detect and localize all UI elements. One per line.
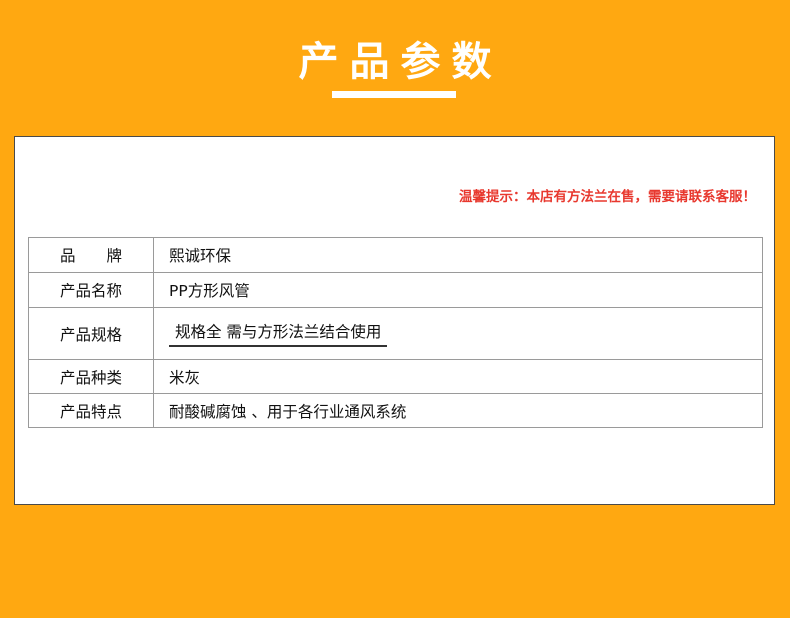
content-card: 温馨提示：本店有方法兰在售，需要请联系客服！ 品 牌 熙诚环保 产品名称 PP方… xyxy=(14,136,775,505)
row-label-specification: 产品规格 xyxy=(29,308,154,360)
row-label-product-type: 产品种类 xyxy=(29,360,154,394)
row-value-product-type: 米灰 xyxy=(154,360,763,394)
table-row: 产品名称 PP方形风管 xyxy=(29,273,763,308)
table-row: 品 牌 熙诚环保 xyxy=(29,238,763,273)
row-label-brand: 品 牌 xyxy=(29,238,154,273)
row-label-product-name: 产品名称 xyxy=(29,273,154,308)
row-label-product-features: 产品特点 xyxy=(29,394,154,428)
table-row: 产品特点 耐酸碱腐蚀 、用于各行业通风系统 xyxy=(29,394,763,428)
row-value-product-name: PP方形风管 xyxy=(154,273,763,308)
product-parameters-page: 产品参数 温馨提示：本店有方法兰在售，需要请联系客服！ 品 牌 熙诚环保 产品名… xyxy=(0,0,790,618)
specification-table: 品 牌 熙诚环保 产品名称 PP方形风管 产品规格 规格全 需与方形法兰结合使用… xyxy=(28,237,763,428)
notice-text: 温馨提示：本店有方法兰在售，需要请联系客服！ xyxy=(459,188,756,206)
row-value-specification-cell: 规格全 需与方形法兰结合使用 xyxy=(154,308,763,360)
page-title: 产品参数 xyxy=(0,38,790,86)
row-value-specification: 规格全 需与方形法兰结合使用 xyxy=(169,320,387,347)
row-value-product-features: 耐酸碱腐蚀 、用于各行业通风系统 xyxy=(154,394,763,428)
row-value-brand: 熙诚环保 xyxy=(154,238,763,273)
table-row: 产品种类 米灰 xyxy=(29,360,763,394)
header-banner: 产品参数 xyxy=(0,0,790,136)
title-underline-bar xyxy=(332,91,456,98)
table-row: 产品规格 规格全 需与方形法兰结合使用 xyxy=(29,308,763,360)
